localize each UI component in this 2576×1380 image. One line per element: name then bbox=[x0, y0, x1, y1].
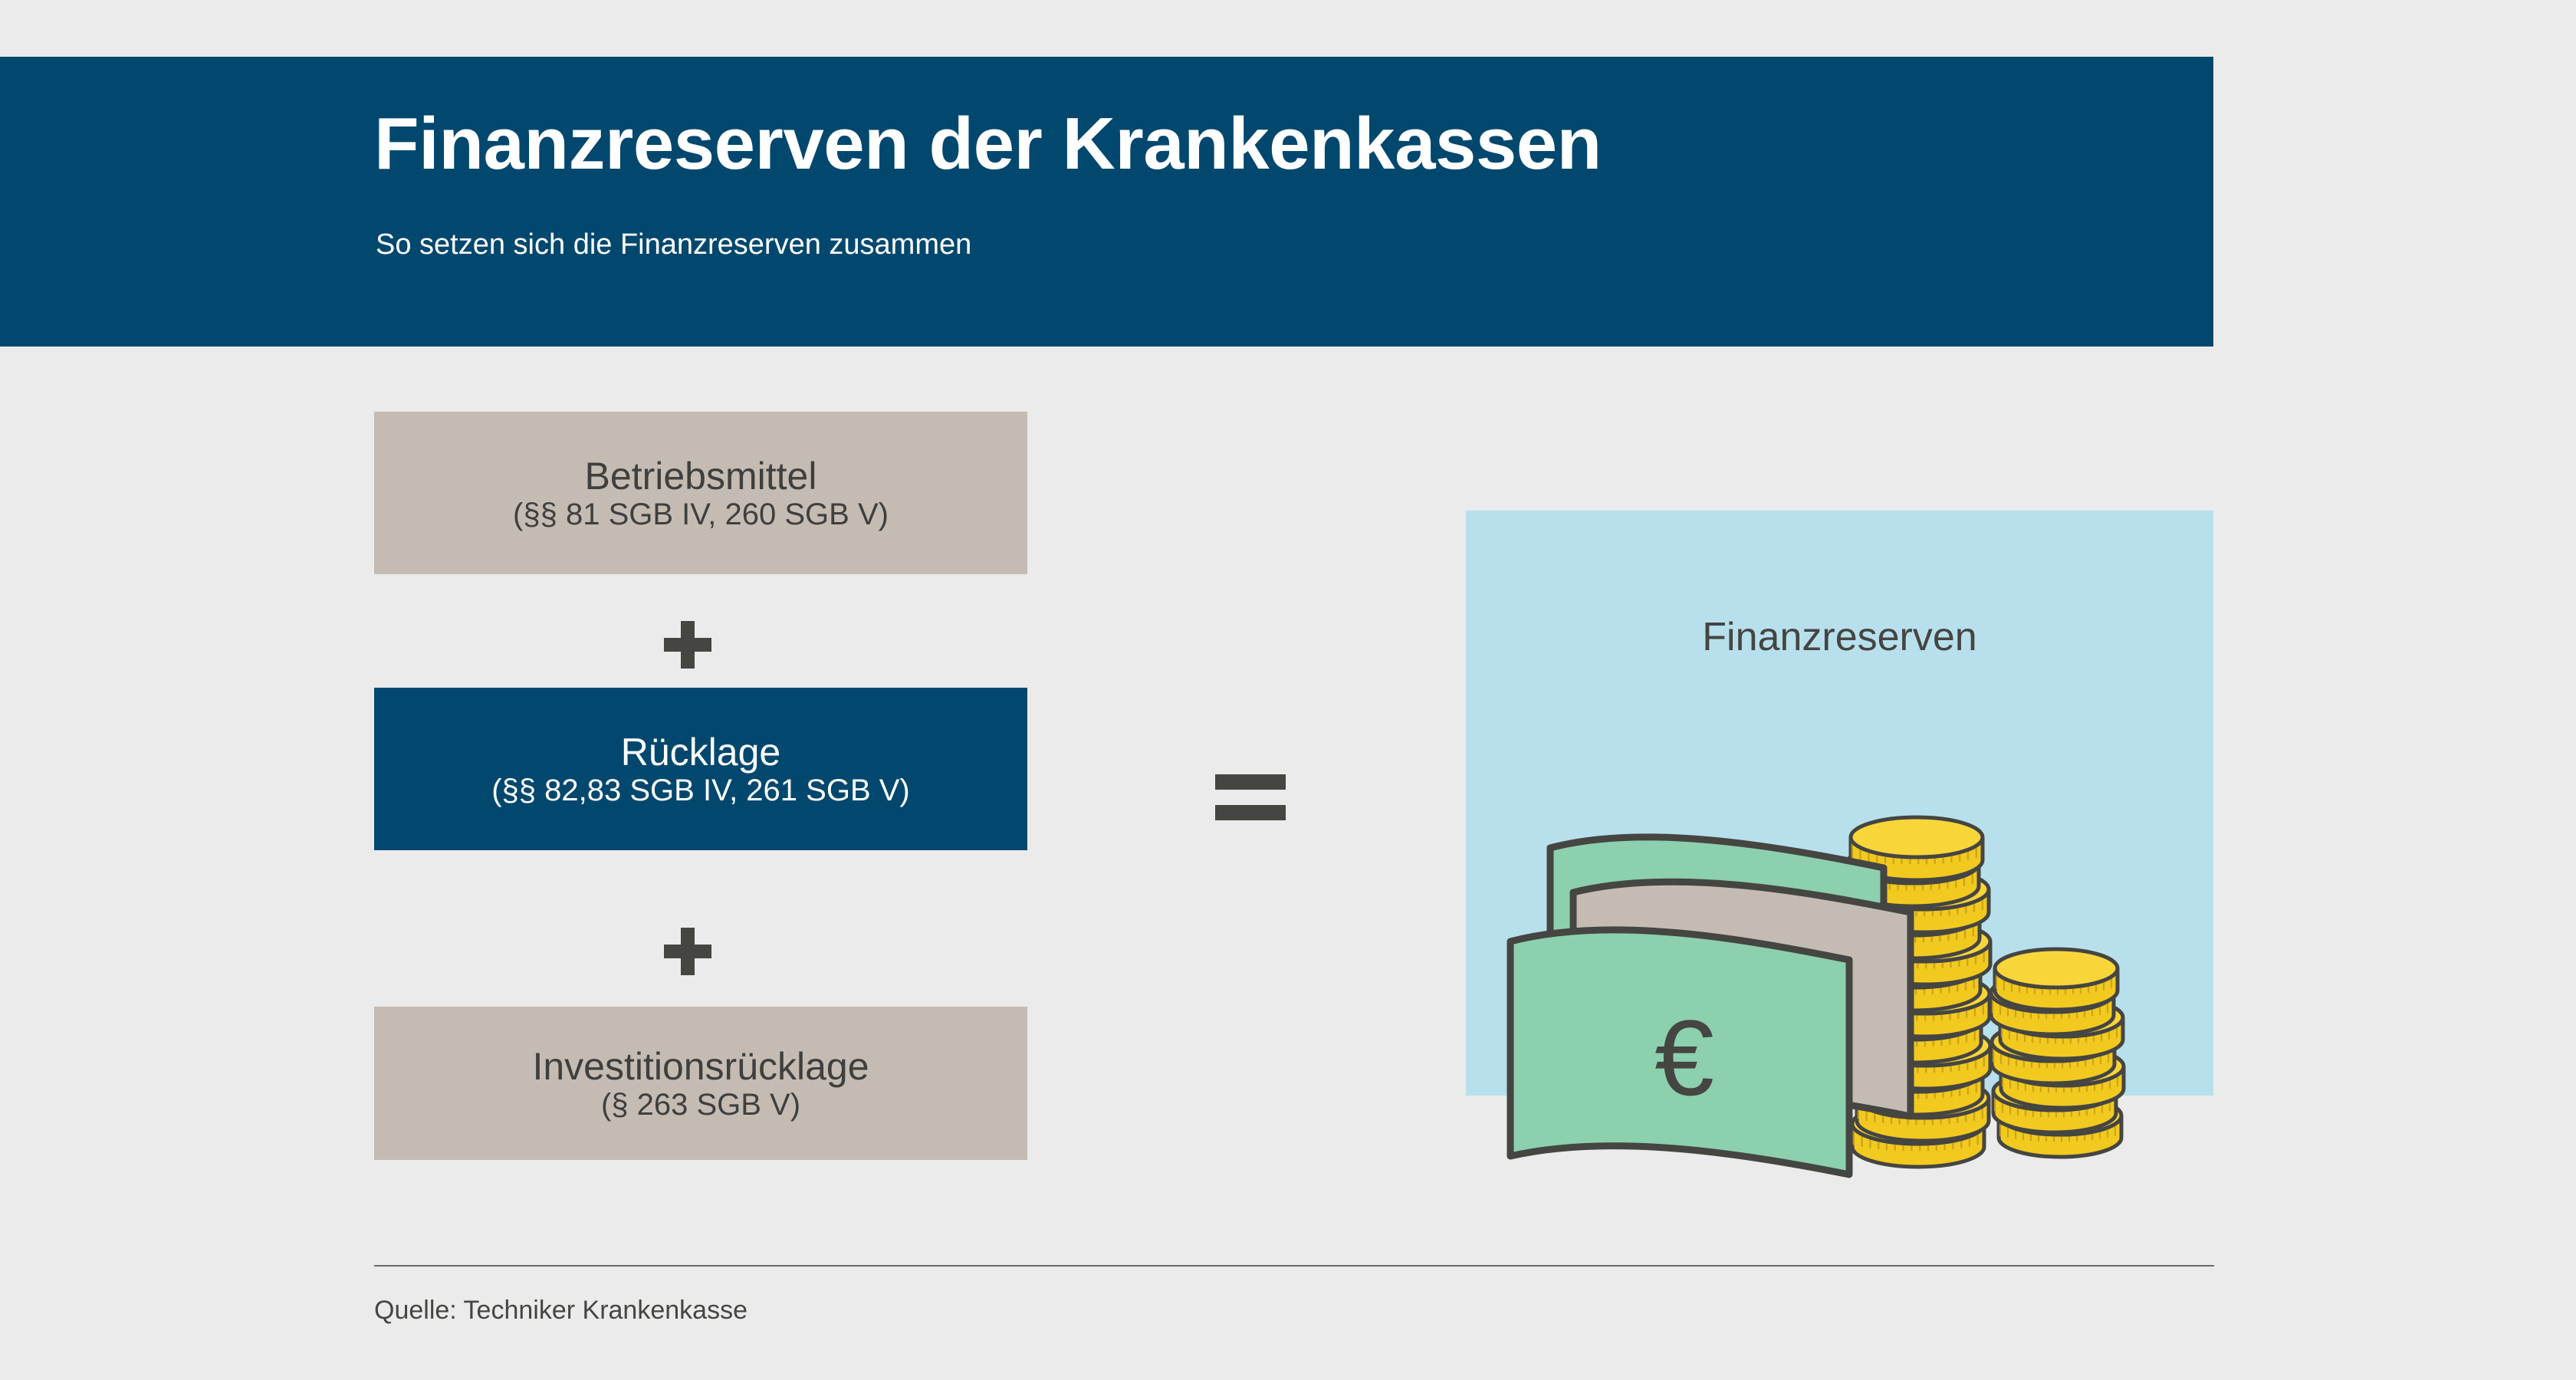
plus-icon bbox=[664, 621, 711, 669]
component-legal-reference: (§§ 82,83 SGB IV, 261 SGB V) bbox=[491, 774, 910, 808]
header-banner bbox=[0, 57, 2213, 347]
component-legal-reference: (§ 263 SGB V) bbox=[601, 1088, 800, 1122]
result-label: Finanzreserven bbox=[1466, 617, 2213, 657]
component-legal-reference: (§§ 81 SGB IV, 260 SGB V) bbox=[513, 498, 889, 532]
component-title: Investitionsrücklage bbox=[532, 1045, 869, 1088]
source-attribution: Quelle: Techniker Krankenkasse bbox=[374, 1297, 747, 1323]
page-subtitle: So setzen sich die Finanzreserven zusamm… bbox=[376, 230, 971, 259]
component-box-ruecklage: Rücklage (§§ 82,83 SGB IV, 261 SGB V) bbox=[374, 688, 1027, 850]
page-title: Finanzreserven der Krankenkassen bbox=[374, 107, 1602, 181]
component-box-investitionsruecklage: Investitionsrücklage (§ 263 SGB V) bbox=[374, 1007, 1027, 1160]
component-title: Rücklage bbox=[621, 731, 780, 774]
component-box-betriebsmittel: Betriebsmittel (§§ 81 SGB IV, 260 SGB V) bbox=[374, 412, 1027, 574]
equals-icon bbox=[1215, 774, 1286, 820]
result-panel bbox=[1466, 511, 2213, 1096]
plus-icon bbox=[664, 928, 711, 975]
component-title: Betriebsmittel bbox=[585, 455, 817, 498]
footer-divider bbox=[374, 1265, 2214, 1267]
